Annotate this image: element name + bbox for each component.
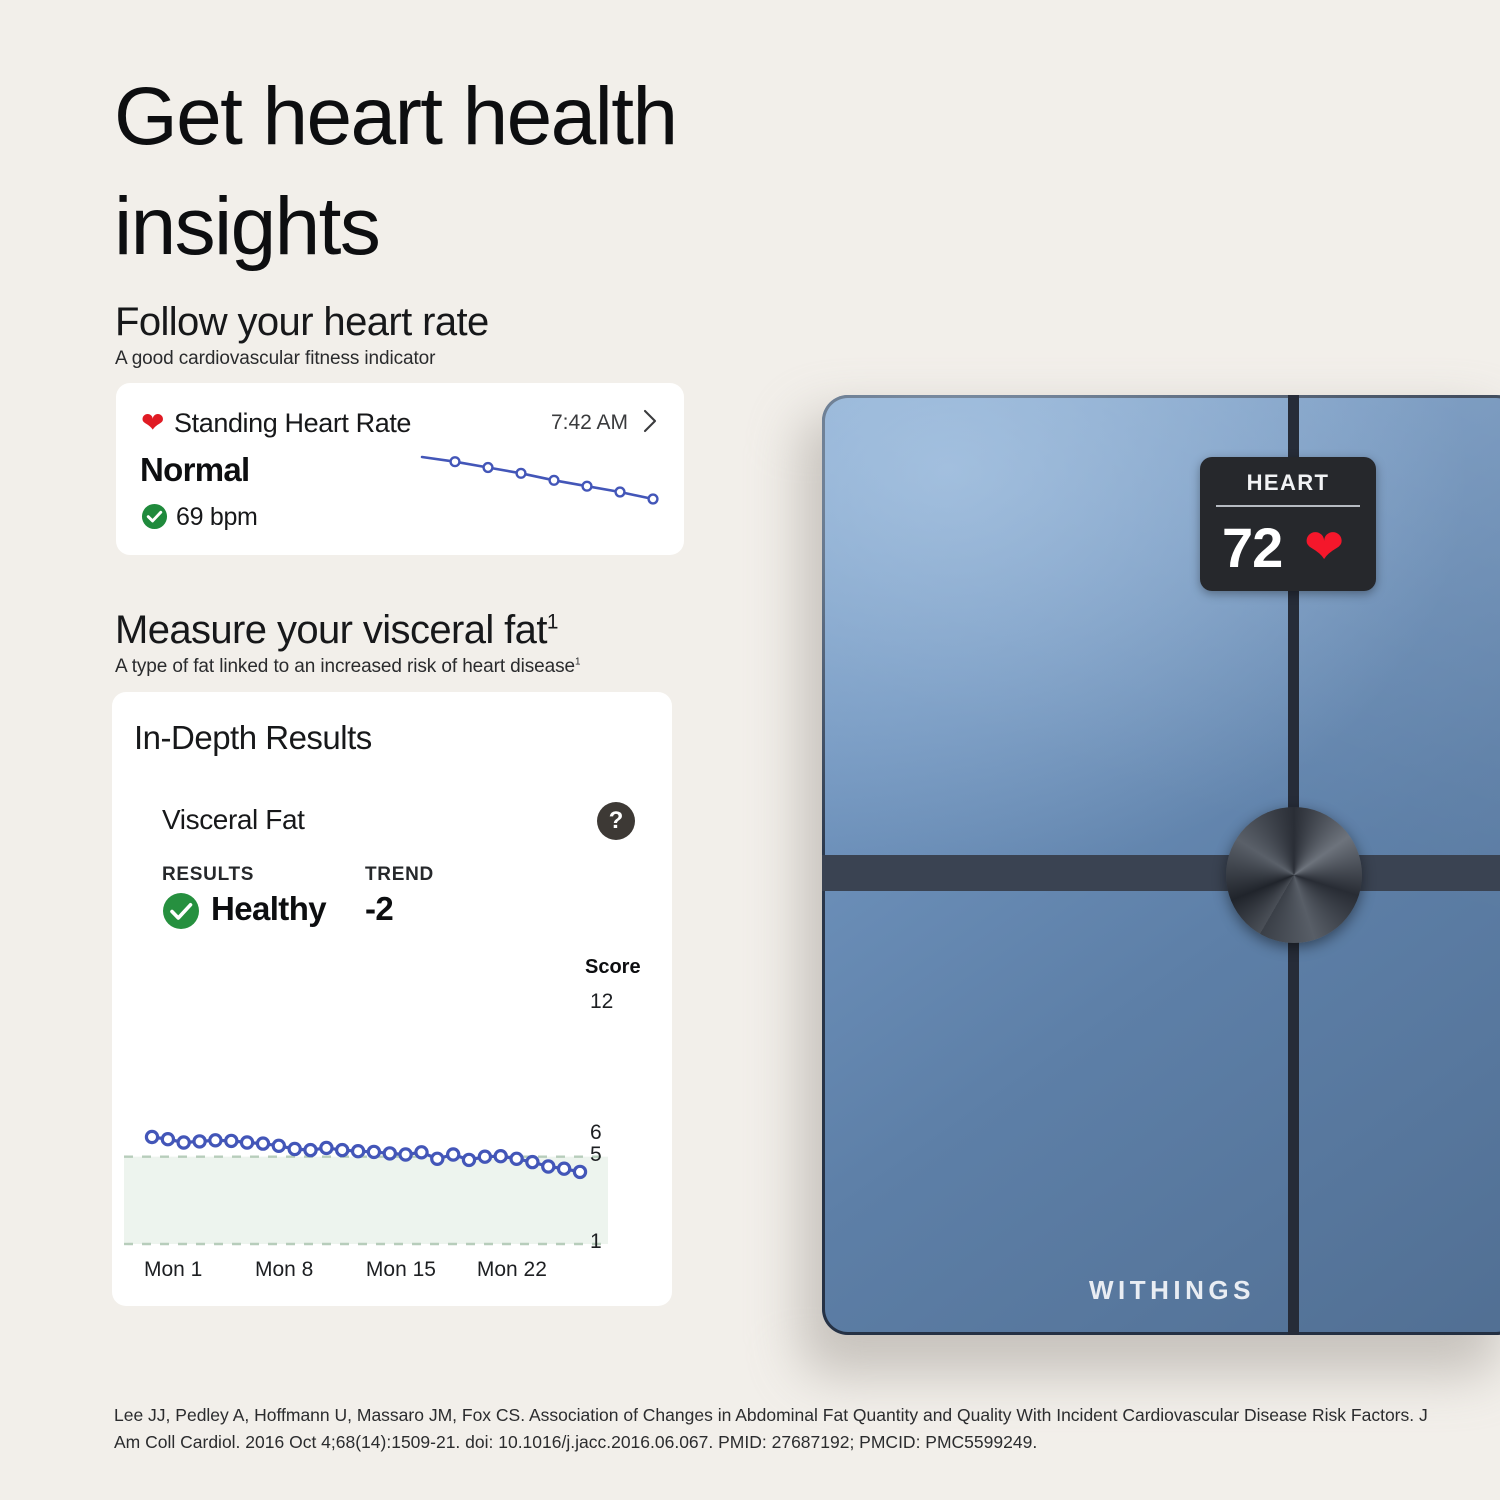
scale-display-title: HEART (1200, 470, 1376, 496)
chevron-right-icon[interactable] (640, 408, 660, 434)
scale-display-value: 72 (1222, 517, 1282, 579)
heart-rate-sparkline (416, 445, 661, 511)
chart-y-tick: 12 (590, 990, 613, 1014)
chart-x-tick: Mon 1 (144, 1258, 202, 1282)
check-circle-icon (141, 503, 168, 530)
visceral-fat-subtitle-footnote-marker: 1 (575, 657, 580, 668)
visceral-fat-title-text: Measure your visceral fat (115, 608, 547, 652)
in-depth-results-card[interactable]: In-Depth Results Visceral Fat ? RESULTS … (112, 692, 672, 1306)
visceral-fat-subtitle-text: A type of fat linked to an increased ris… (115, 656, 575, 677)
visceral-fat-metric-name: Visceral Fat (162, 804, 305, 836)
standing-heart-rate-card[interactable]: ❤ Standing Heart Rate 7:42 AM Normal 69 … (116, 383, 684, 555)
heart-rate-status: Normal (140, 451, 250, 489)
chart-y-tick: 1 (590, 1230, 602, 1254)
check-circle-icon (162, 892, 200, 930)
page-headline: Get heart health insights (114, 62, 874, 282)
heart-rate-section-title: Follow your heart rate (115, 300, 489, 345)
heart-rate-timestamp: 7:42 AM (551, 411, 628, 435)
chart-x-tick: Mon 8 (255, 1258, 313, 1282)
chart-x-tick: Mon 15 (366, 1258, 436, 1282)
scale-glass-top: HEART 72 ❤ WITHINGS (822, 395, 1500, 1335)
heart-icon: ❤ (1304, 523, 1344, 573)
chart-x-tick: Mon 22 (477, 1258, 547, 1282)
heart-icon: ❤ (141, 409, 169, 437)
visceral-fat-result-value: Healthy (211, 890, 326, 928)
results-column-header: RESULTS (162, 864, 254, 886)
scale-center-knob (1226, 807, 1362, 943)
chart-y-tick: 5 (590, 1143, 602, 1167)
heart-rate-value: 69 bpm (176, 503, 258, 532)
product-photo-smart-scale: HEART 72 ❤ WITHINGS (760, 360, 1500, 1370)
visceral-fat-section-subtitle: A type of fat linked to an increased ris… (115, 656, 580, 678)
heart-rate-section-subtitle: A good cardiovascular fitness indicator (115, 348, 435, 370)
visceral-fat-chart-svg (112, 942, 672, 1302)
scale-display-divider (1216, 505, 1360, 507)
withings-brand-wordmark: WITHINGS (822, 1275, 1500, 1306)
scale-heart-display: HEART 72 ❤ (1200, 457, 1376, 591)
footnote-citation: Lee JJ, Pedley A, Hoffmann U, Massaro JM… (114, 1402, 1444, 1456)
visceral-fat-title-footnote-marker: 1 (547, 611, 558, 634)
scale-horizontal-band (822, 855, 1500, 891)
question-mark-icon[interactable]: ? (597, 802, 635, 840)
heart-rate-card-label: Standing Heart Rate (174, 408, 411, 439)
promo-page: Get heart health insights Follow your he… (0, 0, 1500, 1500)
chart-y-tick: 6 (590, 1121, 602, 1145)
visceral-fat-chart: Score 12651 Mon 1Mon 8Mon 15Mon 22 (112, 942, 672, 1302)
in-depth-results-heading: In-Depth Results (134, 719, 372, 757)
visceral-fat-trend-value: -2 (365, 890, 393, 928)
trend-column-header: TREND (365, 864, 434, 886)
visceral-fat-section-title: Measure your visceral fat1 (115, 608, 558, 653)
